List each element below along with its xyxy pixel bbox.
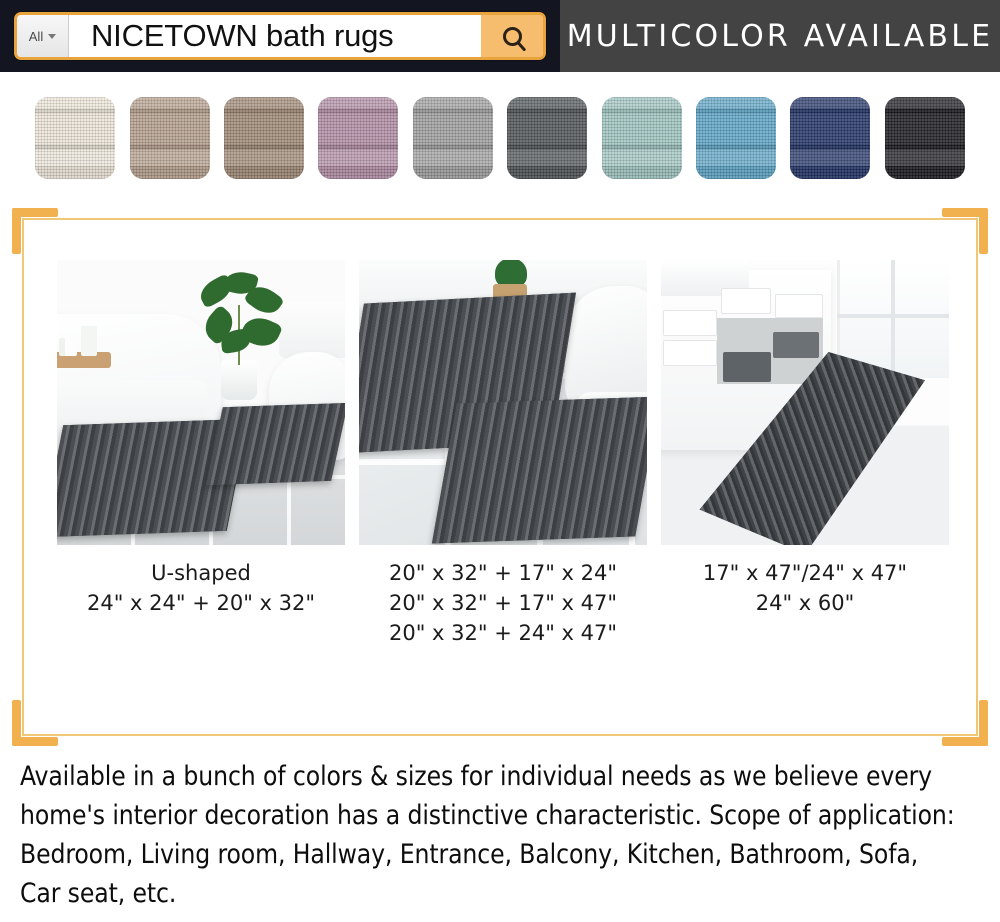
frame-corner-bottom-left [12, 700, 58, 746]
swatch-item[interactable] [406, 97, 500, 179]
swatch-item[interactable] [28, 97, 122, 179]
swatch-item[interactable] [689, 97, 783, 179]
search-banner-left: All NICETOWN bath rugs [0, 0, 560, 72]
swatch-item[interactable] [500, 97, 594, 179]
frame-corner-top-right [942, 208, 988, 254]
swatch-item[interactable] [878, 97, 972, 179]
color-swatch-black[interactable] [885, 97, 965, 179]
product-column: U-shaped 24" x 24" + 20" x 32" [57, 260, 345, 648]
color-swatch-dark-grey[interactable] [507, 97, 587, 179]
color-swatch-sage-aqua[interactable] [602, 97, 682, 179]
tagline-text: MULTICOLOR AVAILABLE [567, 19, 994, 54]
color-swatch-light-grey[interactable] [413, 97, 493, 179]
color-swatch-mauve-pink[interactable] [318, 97, 398, 179]
chevron-down-icon [48, 34, 56, 39]
product-caption: 20" x 32" + 17" x 24" 20" x 32" + 17" x … [359, 559, 647, 648]
swatch-item[interactable] [783, 97, 877, 179]
swatch-item[interactable] [122, 97, 216, 179]
tagline-banner: MULTICOLOR AVAILABLE [560, 0, 1000, 72]
product-caption: 17" x 47"/24" x 47" 24" x 60" [661, 559, 949, 619]
frame-corner-top-left [12, 208, 58, 254]
color-swatch-taupe[interactable] [130, 97, 210, 179]
product-column: 17" x 47"/24" x 47" 24" x 60" [661, 260, 949, 648]
runner-rug-by-vanity-photo [661, 260, 949, 545]
frame-corner-bottom-right [942, 700, 988, 746]
product-columns: U-shaped 24" x 24" + 20" x 32" 20" x 32"… [57, 260, 947, 648]
two-rectangular-rugs-on-tile-floor-photo [359, 260, 647, 545]
rug-contour [206, 403, 345, 485]
swatch-item[interactable] [594, 97, 688, 179]
bathroom-with-u-shaped-rug-set-photo [57, 260, 345, 545]
search-input[interactable]: NICETOWN bath rugs [69, 15, 481, 57]
top-banner: All NICETOWN bath rugs MULTICOLOR AVAILA… [0, 0, 1000, 72]
product-caption: U-shaped 24" x 24" + 20" x 32" [57, 559, 345, 619]
swatch-item[interactable] [217, 97, 311, 179]
product-column: 20" x 32" + 17" x 24" 20" x 32" + 17" x … [359, 260, 647, 648]
swatch-item[interactable] [311, 97, 405, 179]
product-showcase-panel: U-shaped 24" x 24" + 20" x 32" 20" x 32"… [22, 218, 978, 736]
search-submit-button[interactable] [481, 15, 543, 57]
search-category-label: All [29, 29, 43, 44]
color-swatch-teal-blue[interactable] [696, 97, 776, 179]
rug-small [432, 397, 647, 544]
search-icon [503, 27, 522, 46]
color-swatch-brown[interactable] [224, 97, 304, 179]
search-category-dropdown[interactable]: All [17, 15, 69, 57]
search-bar[interactable]: All NICETOWN bath rugs [14, 12, 546, 60]
product-description: Available in a bunch of colors & sizes f… [20, 757, 955, 914]
color-swatch-row [0, 92, 1000, 184]
color-swatch-cream[interactable] [35, 97, 115, 179]
color-swatch-navy[interactable] [790, 97, 870, 179]
